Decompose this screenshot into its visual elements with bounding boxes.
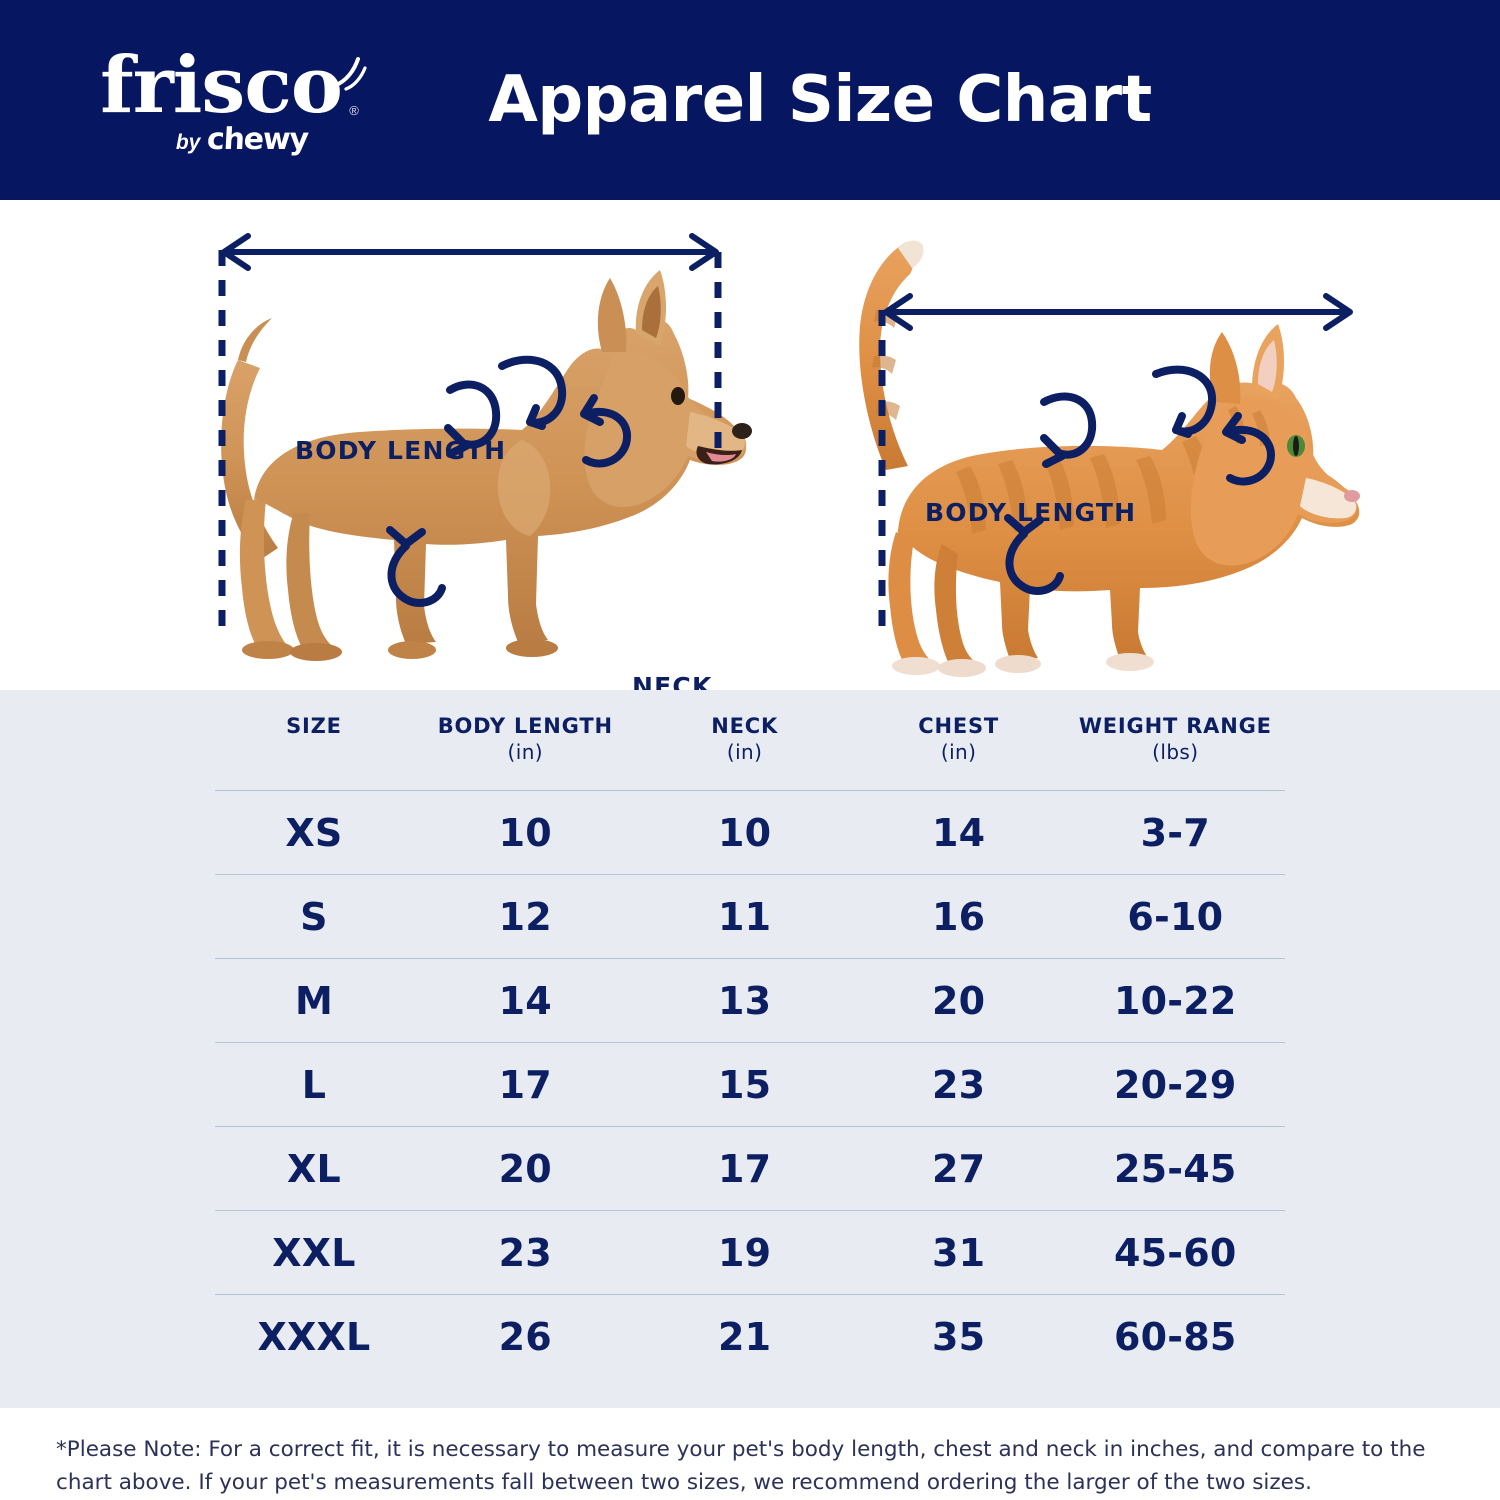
by-chewy-lockup: by chewy: [176, 122, 308, 157]
cell-size: S: [215, 875, 413, 959]
cell-weight-range: 45-60: [1066, 1211, 1285, 1295]
page-header: frisco ® by chewy Apparel Size Chart: [0, 0, 1500, 200]
column-header-neck-label: NECK: [711, 714, 778, 738]
size-table-body: XS 10 10 14 3-7 S 12 11 16 6-10 M 14 13: [215, 791, 1285, 1379]
brand-wordmark: frisco ®: [100, 49, 356, 123]
size-table: SIZE BODY LENGTH (in) NECK (in) CHEST (i…: [215, 690, 1285, 1378]
cell-chest: 14: [852, 791, 1066, 875]
brand-wordmark-text: frisco: [100, 40, 342, 131]
column-header-weight-range-label: WEIGHT RANGE: [1079, 714, 1272, 738]
cell-neck: 17: [638, 1127, 852, 1211]
cell-size: M: [215, 959, 413, 1043]
cell-weight-range: 20-29: [1066, 1043, 1285, 1127]
cell-weight-range: 60-85: [1066, 1295, 1285, 1379]
footer-note: *Please Note: For a correct fit, it is n…: [56, 1434, 1452, 1499]
column-header-chest: CHEST (in): [852, 690, 1066, 791]
column-header-weight-range: WEIGHT RANGE (lbs): [1066, 690, 1285, 791]
swish-icon: [332, 55, 372, 95]
chewy-wordmark: chewy: [206, 122, 309, 157]
measurement-illustrations: BODY LENGTH NECK CHEST BODY LENGTH NECK …: [0, 200, 1500, 690]
cell-neck: 11: [638, 875, 852, 959]
table-row: L 17 15 23 20-29: [215, 1043, 1285, 1127]
cell-size: XL: [215, 1127, 413, 1211]
cat-illustration: [790, 200, 1410, 690]
cell-chest: 16: [852, 875, 1066, 959]
cell-chest: 27: [852, 1127, 1066, 1211]
cell-size: L: [215, 1043, 413, 1127]
table-row: S 12 11 16 6-10: [215, 875, 1285, 959]
column-header-size: SIZE: [215, 690, 413, 791]
cell-chest: 20: [852, 959, 1066, 1043]
column-header-chest-unit: (in): [852, 740, 1066, 764]
table-row: XXXL 26 21 35 60-85: [215, 1295, 1285, 1379]
cell-neck: 21: [638, 1295, 852, 1379]
dog-body-length-label: BODY LENGTH: [295, 436, 506, 465]
cell-neck: 19: [638, 1211, 852, 1295]
page-title-text: Apparel Size Chart: [488, 63, 1151, 137]
by-label: by: [176, 131, 201, 155]
table-row: XXL 23 19 31 45-60: [215, 1211, 1285, 1295]
cat-body-length-label: BODY LENGTH: [925, 498, 1136, 527]
column-header-neck: NECK (in): [638, 690, 852, 791]
cell-weight-range: 25-45: [1066, 1127, 1285, 1211]
size-table-section: SIZE BODY LENGTH (in) NECK (in) CHEST (i…: [0, 690, 1500, 1408]
column-header-body-length-unit: (in): [413, 740, 638, 764]
cell-neck: 13: [638, 959, 852, 1043]
table-row: M 14 13 20 10-22: [215, 959, 1285, 1043]
cell-chest: 31: [852, 1211, 1066, 1295]
cell-body-length: 23: [413, 1211, 638, 1295]
cell-weight-range: 10-22: [1066, 959, 1285, 1043]
size-chart-page: frisco ® by chewy Apparel Size Chart: [0, 0, 1500, 1500]
cell-neck: 10: [638, 791, 852, 875]
cell-body-length: 14: [413, 959, 638, 1043]
table-row: XS 10 10 14 3-7: [215, 791, 1285, 875]
size-table-head: SIZE BODY LENGTH (in) NECK (in) CHEST (i…: [215, 690, 1285, 791]
cell-body-length: 20: [413, 1127, 638, 1211]
cell-weight-range: 6-10: [1066, 875, 1285, 959]
header-row: SIZE BODY LENGTH (in) NECK (in) CHEST (i…: [215, 690, 1285, 791]
cell-size: XS: [215, 791, 413, 875]
cell-chest: 35: [852, 1295, 1066, 1379]
cell-size: XXXL: [215, 1295, 413, 1379]
column-header-chest-label: CHEST: [918, 714, 999, 738]
cell-chest: 23: [852, 1043, 1066, 1127]
cell-body-length: 12: [413, 875, 638, 959]
column-header-body-length-label: BODY LENGTH: [438, 714, 613, 738]
cell-body-length: 17: [413, 1043, 638, 1127]
table-row: XL 20 17 27 25-45: [215, 1127, 1285, 1211]
footer-note-section: *Please Note: For a correct fit, it is n…: [0, 1408, 1500, 1500]
cell-body-length: 26: [413, 1295, 638, 1379]
frisco-logo[interactable]: frisco ® by chewy: [78, 38, 378, 168]
cell-size: XXL: [215, 1211, 413, 1295]
column-header-neck-unit: (in): [638, 740, 852, 764]
cell-body-length: 10: [413, 791, 638, 875]
cell-neck: 15: [638, 1043, 852, 1127]
cell-weight-range: 3-7: [1066, 791, 1285, 875]
registered-trademark-icon: ®: [349, 105, 358, 117]
column-header-weight-range-unit: (lbs): [1066, 740, 1285, 764]
column-header-size-label: SIZE: [286, 714, 342, 738]
column-header-body-length: BODY LENGTH (in): [413, 690, 638, 791]
